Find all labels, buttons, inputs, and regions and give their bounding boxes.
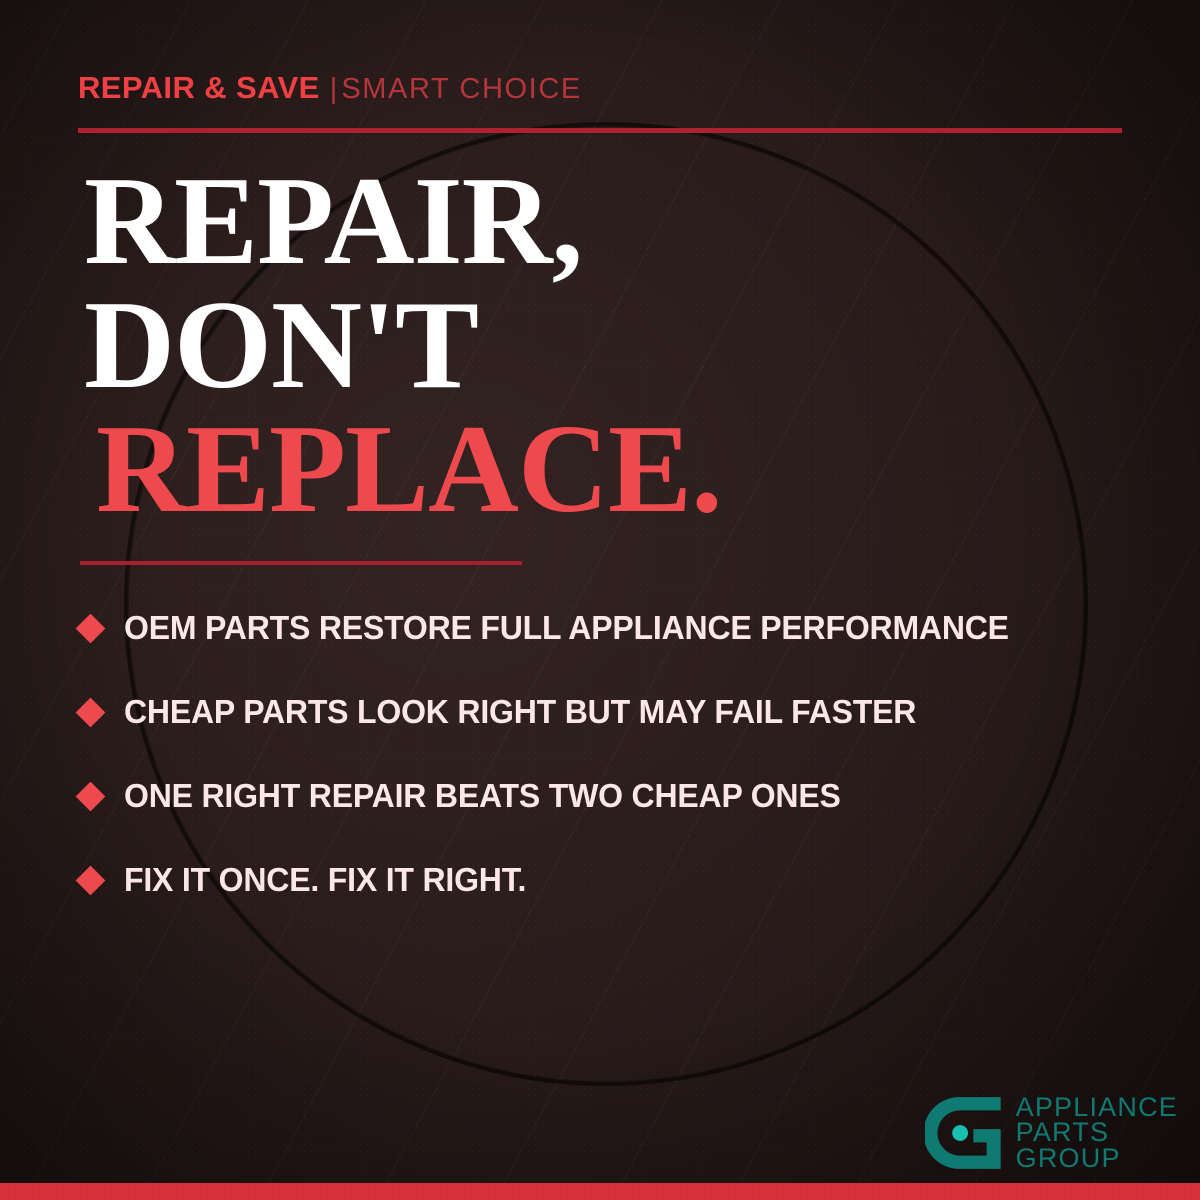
g-letter-mark-icon — [925, 1094, 1003, 1172]
bottom-accent-bar-texture — [0, 1183, 1200, 1200]
header-divider-rule — [78, 128, 1122, 133]
list-item: OEM PARTS RESTORE FULL APPLIANCE PERFORM… — [80, 586, 1150, 670]
headline-line-1: REPAIR, — [84, 160, 722, 284]
brand-logo: APPLIANCE PARTS GROUP — [925, 1094, 1178, 1172]
kicker: REPAIR & SAVE|SMART CHOICE — [78, 72, 582, 104]
diamond-icon — [76, 613, 106, 643]
headline-line-3: REPLACE. — [84, 408, 722, 532]
list-item: FIX IT ONCE. FIX IT RIGHT. — [80, 838, 1150, 922]
bottom-accent-bar — [0, 1183, 1200, 1200]
list-item-label: ONE RIGHT REPAIR BEATS TWO CHEAP ONES — [124, 777, 841, 815]
benefits-list: OEM PARTS RESTORE FULL APPLIANCE PERFORM… — [80, 586, 1150, 922]
list-item-label: FIX IT ONCE. FIX IT RIGHT. — [124, 861, 526, 899]
list-item-label: CHEAP PARTS LOOK RIGHT BUT MAY FAIL FAST… — [124, 693, 916, 731]
promo-poster: REPAIR & SAVE|SMART CHOICE REPAIR, DON'T… — [0, 0, 1200, 1200]
kicker-sub-label: SMART CHOICE — [341, 73, 582, 105]
kicker-main-label: REPAIR & SAVE — [78, 70, 320, 105]
list-item: ONE RIGHT REPAIR BEATS TWO CHEAP ONES — [80, 754, 1150, 838]
page-title: REPAIR, DON'T REPLACE. — [84, 160, 722, 532]
list-item-label: OEM PARTS RESTORE FULL APPLIANCE PERFORM… — [124, 609, 1009, 647]
poster-content: REPAIR & SAVE|SMART CHOICE REPAIR, DON'T… — [0, 0, 1200, 1200]
list-item: CHEAP PARTS LOOK RIGHT BUT MAY FAIL FAST… — [80, 670, 1150, 754]
brand-logo-line-3: GROUP — [1016, 1146, 1178, 1172]
bullets-divider-rule — [80, 561, 522, 565]
diamond-icon — [76, 781, 106, 811]
brand-logo-line-2: PARTS — [1016, 1120, 1178, 1146]
kicker-separator: | — [330, 73, 338, 105]
diamond-icon — [76, 865, 106, 895]
diamond-icon — [76, 697, 106, 727]
headline-line-2: DON'T — [84, 284, 722, 408]
brand-logo-wordmark: APPLIANCE PARTS GROUP — [1016, 1095, 1178, 1172]
